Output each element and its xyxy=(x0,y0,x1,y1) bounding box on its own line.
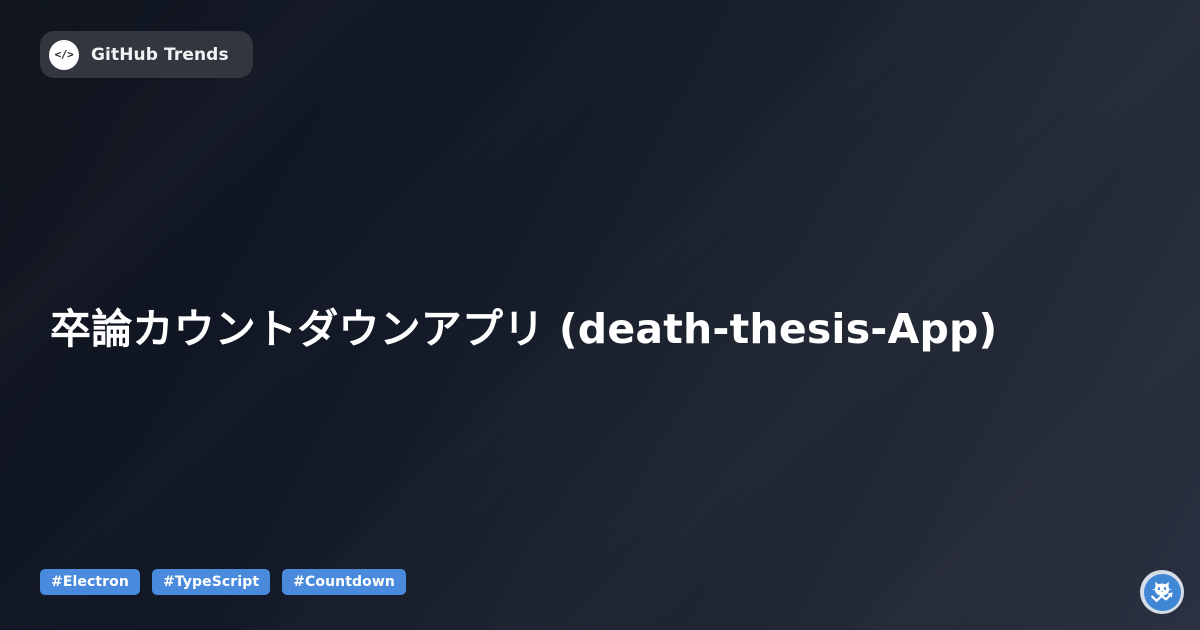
code-brackets-icon: </> xyxy=(49,40,79,70)
brand-logo xyxy=(1140,570,1184,614)
tag-electron: #Electron xyxy=(40,569,140,595)
tag-countdown: #Countdown xyxy=(282,569,406,595)
source-badge-label: GitHub Trends xyxy=(91,45,229,65)
cat-trending-chart-logo-icon xyxy=(1144,574,1181,611)
source-badge: </> GitHub Trends xyxy=(40,31,253,78)
tag-typescript: #TypeScript xyxy=(152,569,270,595)
tag-list: #Electron #TypeScript #Countdown xyxy=(40,569,406,595)
page-title: 卒論カウントダウンアプリ (death-thesis-App) xyxy=(50,303,1130,355)
code-brackets-glyph: </> xyxy=(55,49,74,60)
og-card: </> GitHub Trends 卒論カウントダウンアプリ (death-th… xyxy=(0,0,1200,630)
